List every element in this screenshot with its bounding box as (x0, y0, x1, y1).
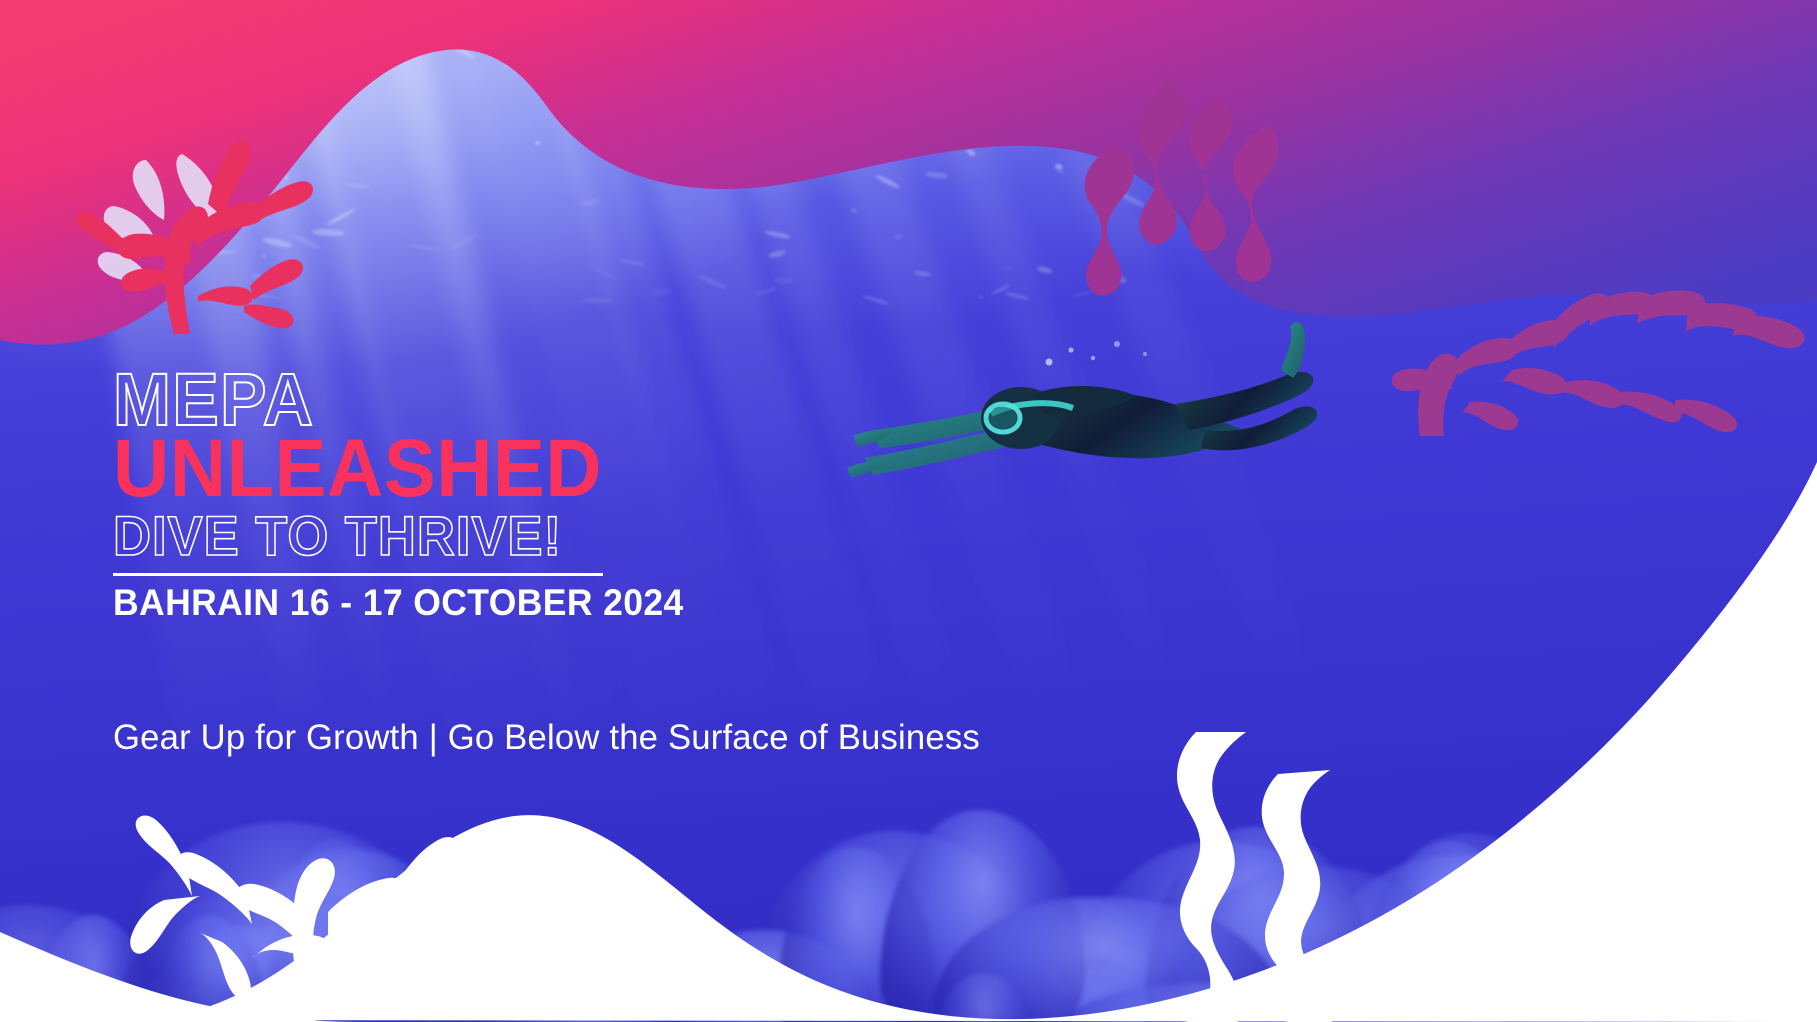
location-date-text: BAHRAIN 16 - 17 OCTOBER 2024 (113, 584, 684, 623)
tagline-text: Gear Up for Growth | Go Below the Surfac… (113, 718, 980, 758)
subhead-text: DIVE TO THRIVE! (113, 508, 672, 564)
headline-block: MEPA UNLEASHED DIVE TO THRIVE! BAHRAIN 1… (113, 366, 707, 623)
coral-branch-white-icon (128, 772, 508, 1022)
headline-divider (113, 573, 603, 576)
seaweed-strands-white-icon (1142, 732, 1382, 1022)
event-banner: MEPA UNLEASHED DIVE TO THRIVE! BAHRAIN 1… (0, 0, 1817, 1022)
coral-branch-purple-icon (1390, 250, 1817, 440)
coral-branch-pink-icon (78, 128, 338, 338)
seaweed-strands-purple-icon (1100, 78, 1380, 378)
headline-text: UNLEASHED (113, 431, 678, 506)
